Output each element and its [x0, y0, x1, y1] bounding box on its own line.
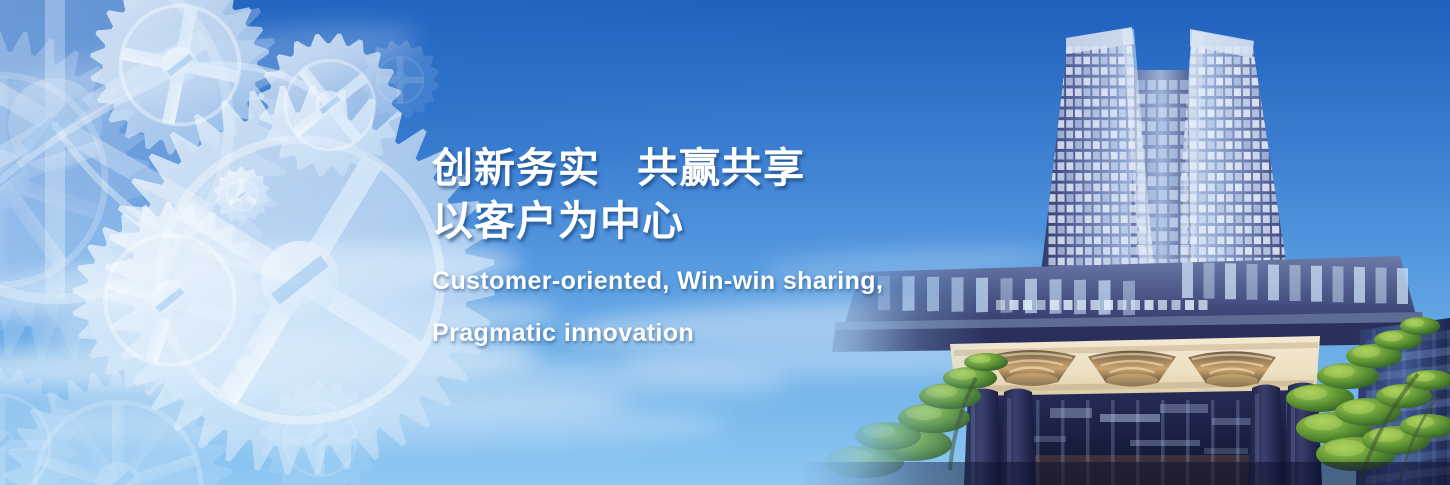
subtitle-line-1: Customer-oriented, Win-win sharing,: [432, 262, 972, 300]
corporate-hero-banner: 创新务实 共赢共享 以客户为中心 Customer-oriented, Win-…: [0, 0, 1450, 485]
banner-copy-block: 创新务实 共赢共享 以客户为中心 Customer-oriented, Win-…: [432, 142, 972, 352]
headline-line-2: 以客户为中心: [432, 195, 972, 248]
headline-line-1: 创新务实 共赢共享: [432, 142, 972, 195]
subtitle-line-2: Pragmatic innovation: [432, 314, 972, 352]
